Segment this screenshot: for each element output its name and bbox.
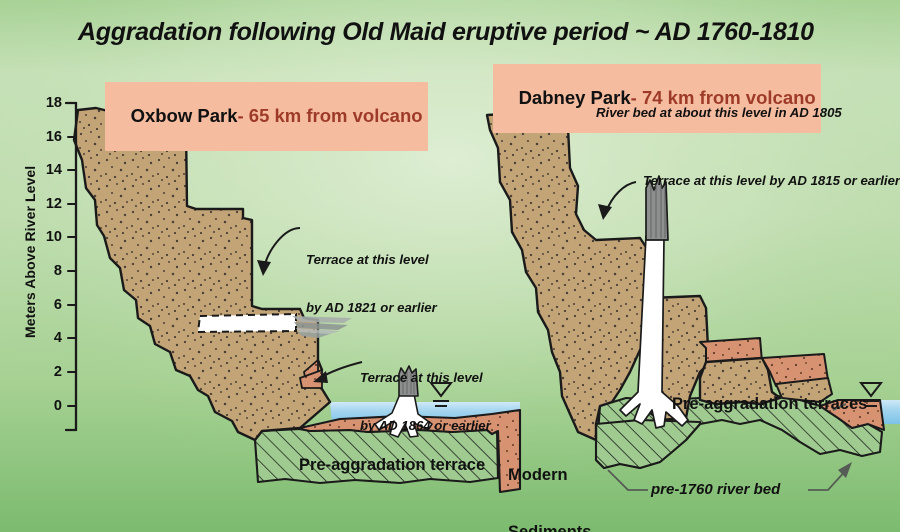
y-tick-10: 10 — [36, 229, 62, 245]
site-header-oxbow: Oxbow Park- 65 km from volcano — [105, 82, 428, 151]
y-tick-6: 6 — [36, 297, 62, 313]
page-title: Aggradation following Old Maid eruptive … — [78, 18, 814, 47]
y-tick-14: 14 — [36, 162, 62, 178]
oxbow-aggradation-deposit — [74, 107, 330, 440]
annotation-oxbow-terrace-1864: Terrace at this level by AD 1864 or earl… — [360, 338, 491, 466]
y-tick-18: 18 — [36, 95, 62, 111]
leader-oxbow-1821 — [257, 228, 300, 276]
label-modern-sediments: Modern Sediments — [508, 428, 591, 532]
y-tick-2: 2 — [36, 364, 62, 380]
site-name-oxbow: Oxbow Park — [131, 105, 238, 126]
y-tick-16: 16 — [36, 129, 62, 145]
y-tick-4: 4 — [36, 330, 62, 346]
annotation-dabney-riverbed-1805: River bed at about this level in AD 1805 — [596, 105, 842, 121]
dabney-aggradation-deposit-upper — [487, 110, 656, 440]
annotation-oxbow-1864-line2: by AD 1864 or earlier — [360, 418, 491, 434]
figure-root: Aggradation following Old Maid eruptive … — [0, 0, 900, 532]
annotation-oxbow-1821-line1: Terrace at this level — [306, 252, 437, 268]
y-axis — [66, 103, 76, 430]
label-pre-1760-river-bed: pre-1760 river bed — [651, 482, 780, 498]
label-modern-sediments-line2: Sediments — [508, 523, 591, 532]
site-header-dabney: Dabney Park- 74 km from volcano — [493, 64, 821, 133]
annotation-oxbow-1821-line2: by AD 1821 or earlier — [306, 300, 437, 316]
annotation-oxbow-1864-line1: Terrace at this level — [360, 370, 491, 386]
annotation-dabney-terrace-1815: Terrace at this level by AD 1815 or earl… — [643, 173, 900, 189]
y-tick-8: 8 — [36, 263, 62, 279]
leader-dabney-1815 — [598, 182, 636, 220]
label-modern-sediments-line1: Modern — [508, 466, 591, 485]
annotation-oxbow-terrace-1821: Terrace at this level by AD 1821 or earl… — [306, 220, 437, 348]
label-pre-aggradation-terrace: Pre-aggradation terrace — [299, 456, 485, 475]
y-tick-0: 0 — [36, 398, 62, 414]
label-pre-aggradation-terraces: Pre-aggradation terraces — [672, 395, 867, 414]
oxbow-buried-wood-band — [198, 314, 296, 332]
y-tick-12: 12 — [36, 196, 62, 212]
site-distance-oxbow: - 65 km from volcano — [238, 105, 423, 126]
